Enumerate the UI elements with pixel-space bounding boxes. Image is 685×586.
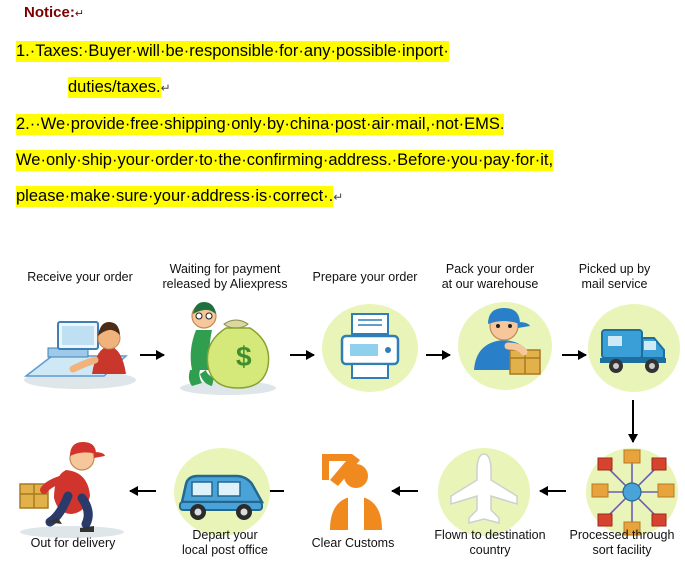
step-prepare-order-label: Prepare your order [295,270,435,285]
step-waiting-payment: $ [168,300,286,396]
step-receive-order [18,308,143,393]
step-clear-customs-label: Clear Customs [292,536,414,551]
step-pack-order-label: Pack your order at our warehouse [420,262,560,291]
notice-title-text: Notice: [24,4,75,21]
term-line-text: duties/taxes. [68,77,161,98]
printer-icon [318,300,422,396]
step-picked-up-label: Picked up by mail service [552,262,677,291]
step-depart-post-office-label: Depart your local post office [162,528,288,557]
term-line-text: 1.·Taxes:·Buyer·will·be·responsible·for·… [16,41,449,62]
paragraph-mark-icon: ↵ [333,190,343,204]
term-line: please·make·sure·your·address·is·correct… [16,185,666,209]
delivery-van-icon [166,444,278,540]
flow-arrow-6 [540,490,566,492]
notice-title: Notice:↵ [24,4,84,21]
svg-text:$: $ [236,341,252,372]
flow-arrow-4 [562,354,586,356]
customs-officer-icon [300,440,400,540]
term-line: 1.·Taxes:·Buyer·will·be·responsible·for·… [16,40,666,63]
flow-arrow-2 [290,354,314,356]
step-waiting-payment-label: Waiting for payment released by Aliexpre… [150,262,300,291]
sort-facility-icon [580,444,684,540]
step-sort-facility [580,444,684,540]
term-line-text: We·only·ship·your·order·to·the·confirmin… [16,150,553,171]
step-out-for-delivery [10,436,128,540]
term-line: We·only·ship·your·order·to·the·confirmin… [16,149,666,172]
mail-truck-icon [586,300,682,396]
term-line-text: 2.··We·provide·free·shipping·only·by·chi… [16,114,504,135]
term-line: duties/taxes.↵ [16,76,666,100]
flow-arrow-9 [130,490,156,492]
step-clear-customs [300,440,400,540]
step-depart-post-office [166,444,278,540]
step-picked-up [586,300,682,396]
worker-with-box-icon [452,296,558,396]
step-receive-order-label: Receive your order [10,270,150,285]
money-bag-icon: $ [168,300,286,396]
term-line-text: please·make·sure·your·address·is·correct… [16,186,333,207]
step-out-for-delivery-label: Out for delivery [8,536,138,551]
term-line: 2.··We·provide·free·shipping·only·by·chi… [16,113,666,136]
paragraph-mark-icon: ↵ [75,8,84,20]
shipping-flow-diagram: Receive your order Waiting for payment r… [0,258,685,586]
paragraph-mark-icon: ↵ [161,81,171,95]
step-sort-facility-label: Processed through sort facility [560,528,684,557]
running-courier-icon [10,436,128,540]
airplane-icon [432,444,536,540]
flow-arrow-1 [140,354,164,356]
flow-arrow-3 [426,354,450,356]
terms-block: 1.·Taxes:·Buyer·will·be·responsible·for·… [16,40,666,222]
step-prepare-order [318,300,422,396]
step-flown-destination [432,444,536,540]
person-at-computer-icon [18,308,143,393]
step-flown-destination-label: Flown to destination country [420,528,560,557]
step-pack-order [452,296,558,396]
flow-arrow-5 [632,400,634,442]
